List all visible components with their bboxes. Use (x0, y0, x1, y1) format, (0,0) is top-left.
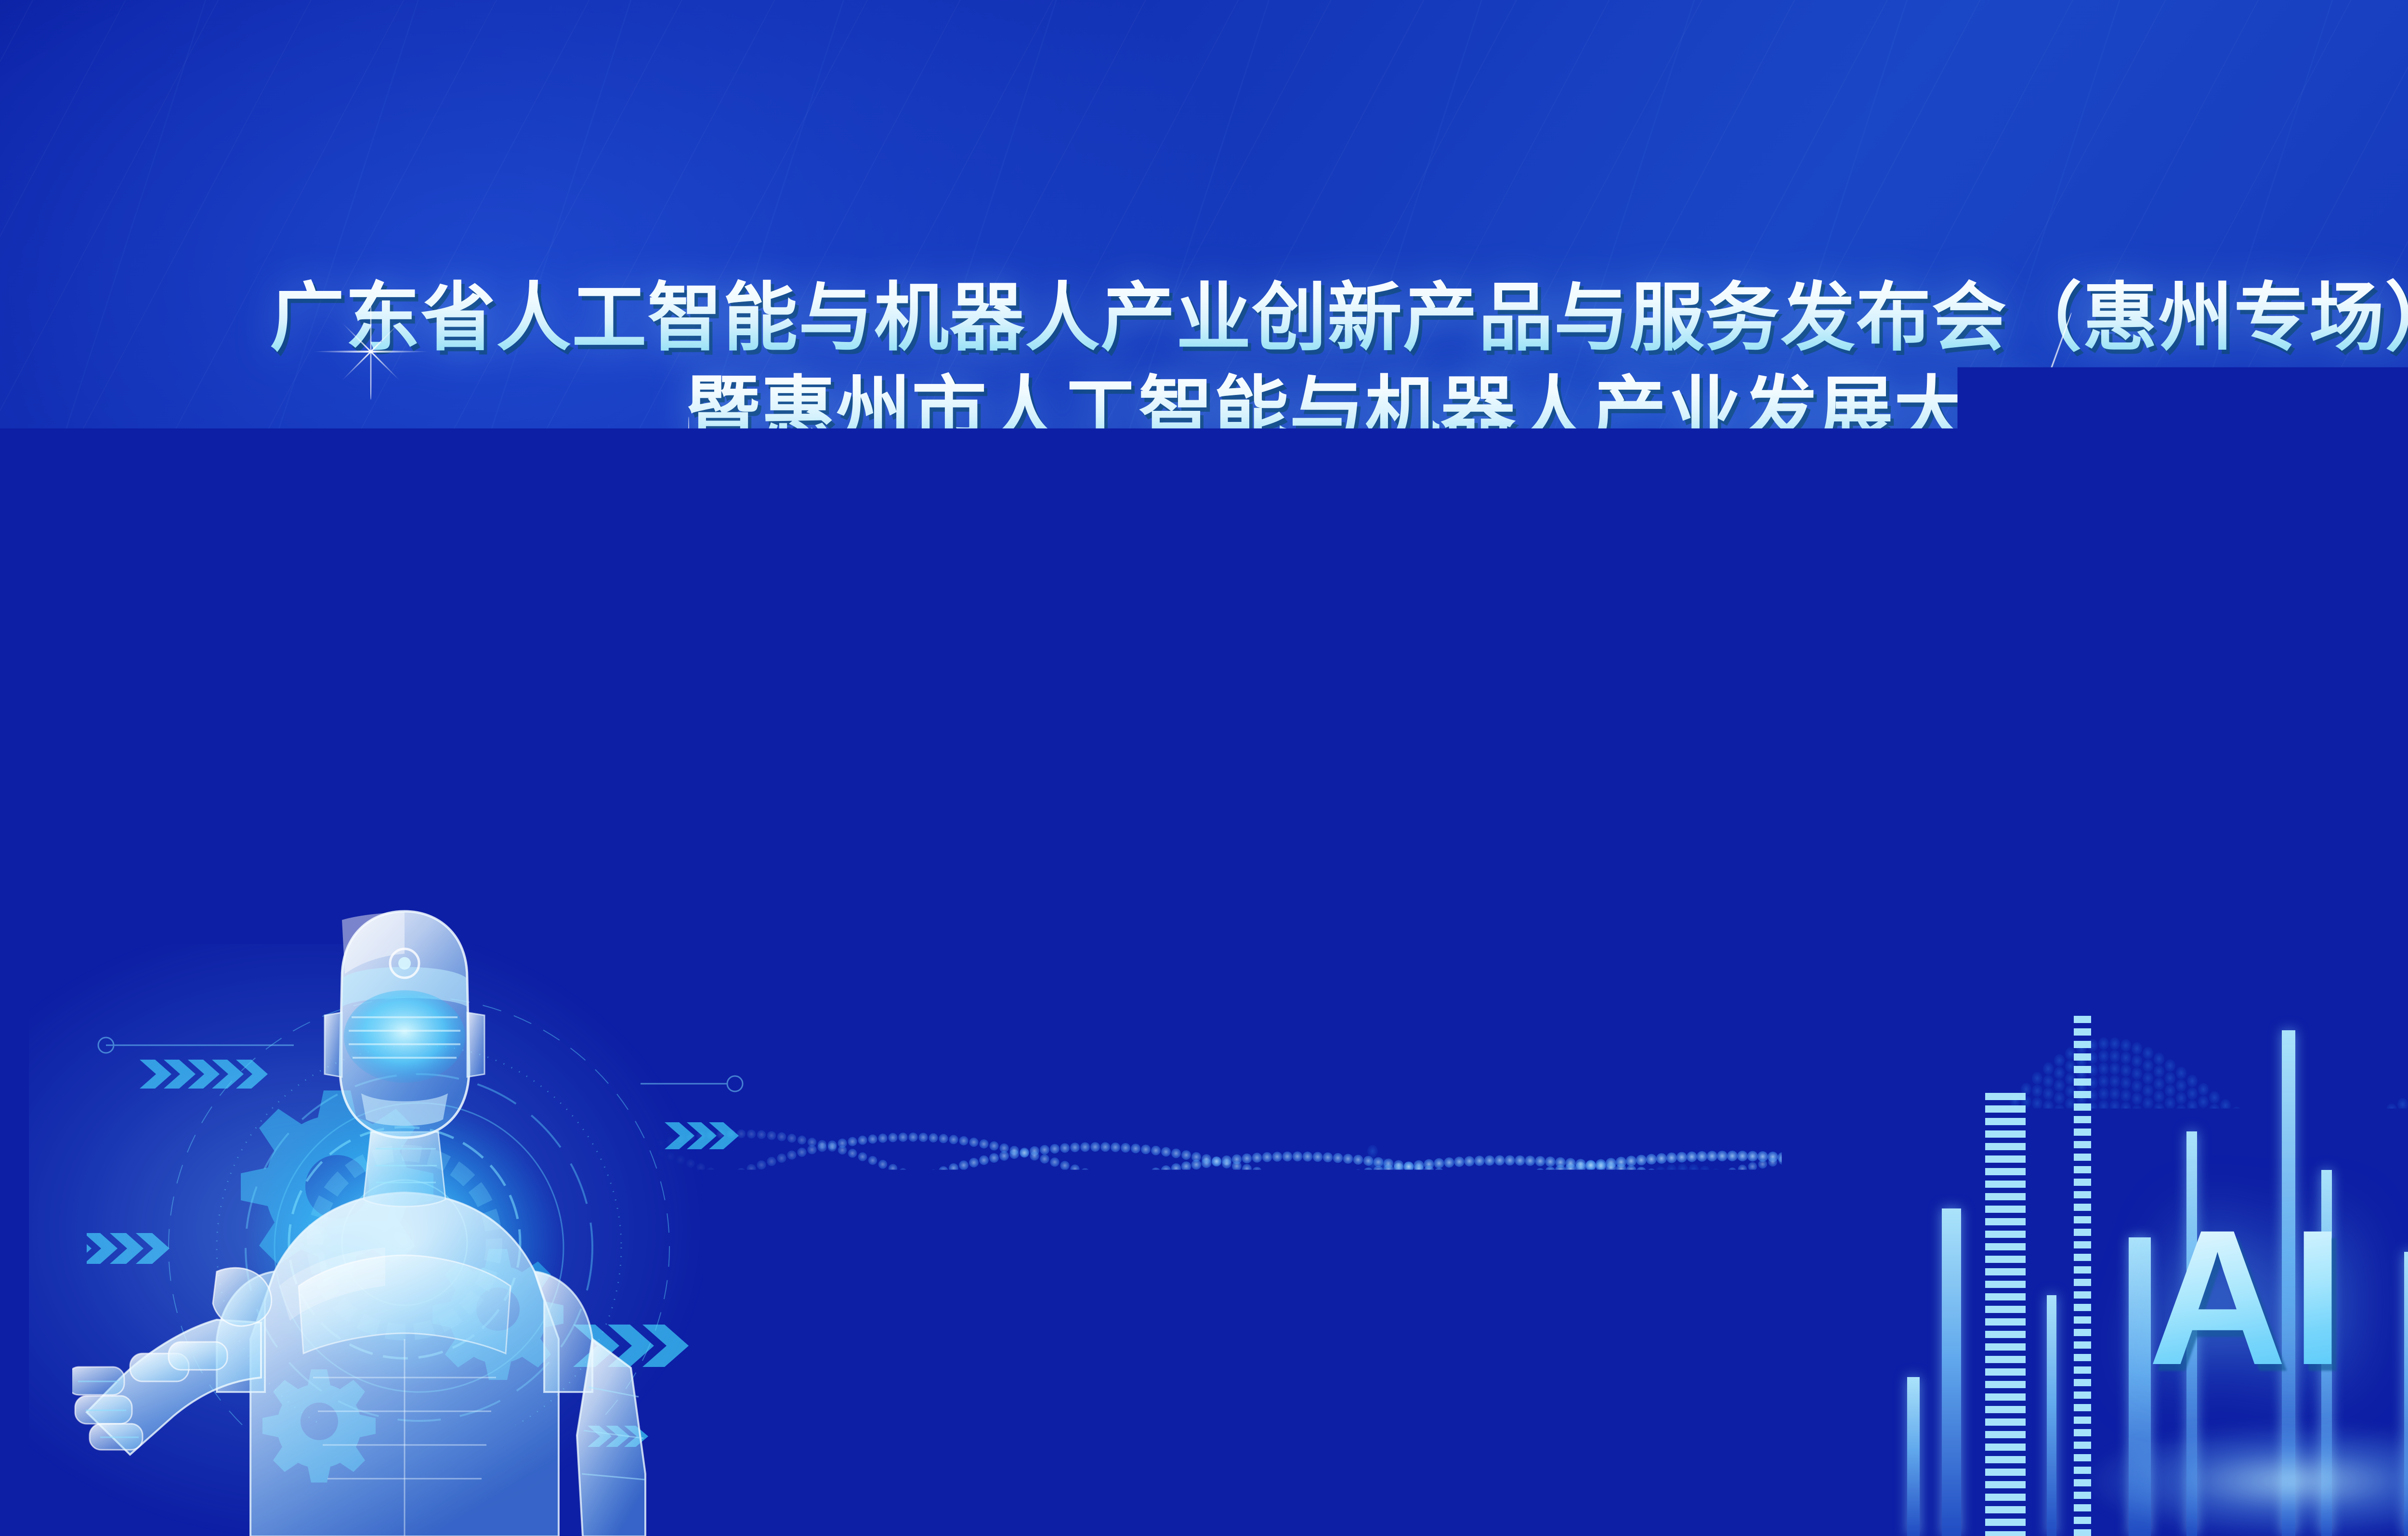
event-subtitle: 中国·惠州2025年6月25日 (0, 561, 2408, 612)
humanoid-robot-figure (72, 906, 713, 1536)
credit-label: 协办单位： (803, 975, 923, 994)
credit-label: 承办单位： (803, 943, 923, 962)
credit-label: 支持单位： (803, 1038, 923, 1058)
credit-label: 指导单位： (803, 880, 923, 899)
credit-value: 广东省人工智能与机器人产业创新发展工作领导小组办公室、惠州市人民政府 (923, 880, 1584, 899)
credit-value: 广东省人工智能与机器人产业联盟、深圳市人工智能产业协会、大湾区（东莞）人工智能联… (923, 1038, 1720, 1058)
title-line-2: 暨惠州市人工智能与机器人产业发展大会 (0, 368, 2408, 455)
ai-logo-underglow (2085, 1423, 2408, 1536)
credit-value: 中国移动通信集团广东有限公司惠州分公司、中国电信股份有限公司惠州分公司 (923, 1007, 1604, 1026)
credit-value: 惠州市工业和信息化局、惠州市政务服务和数据管理局 (923, 911, 1390, 931)
credit-value: 惠州市电子信息产业协会、惠州市人工智能与机器人产业联盟 (923, 943, 1448, 962)
credit-row: 支持单位： 广东省人工智能与机器人产业联盟、深圳市人工智能产业协会、大湾区（东莞… (803, 1038, 1720, 1058)
credit-row: 承办单位： 惠州市电子信息产业协会、惠州市人工智能与机器人产业联盟 (803, 943, 1720, 962)
credit-row: 主办单位： 惠州市工业和信息化局、惠州市政务服务和数据管理局 (803, 911, 1720, 931)
credit-value: 中国联合网络通信有限公司惠州市分公司、中国邮政储蓄银行股份有限公司惠州市分行 (923, 975, 1662, 994)
event-title: 广东省人工智能与机器人产业创新产品与服务发布会（惠州专场） 暨惠州市人工智能与机… (0, 275, 2408, 455)
credit-label: 主办单位： (803, 911, 923, 931)
credit-row: 指导单位： 广东省人工智能与机器人产业创新发展工作领导小组办公室、惠州市人民政府 (803, 880, 1720, 899)
event-banner: AI 广东省人工智能与机器人产业创新产品与服务发布会（惠州专场） 暨惠州市人工智… (0, 0, 2408, 1536)
subtitle-date: 2025年6月25日 (1335, 571, 1581, 609)
subtitle-location: 中国·惠州 (1150, 571, 1303, 609)
credit-row-continuation: 中国移动通信集团广东有限公司惠州分公司、中国电信股份有限公司惠州分公司 (803, 1007, 1720, 1026)
organizer-credits: 指导单位： 广东省人工智能与机器人产业创新发展工作领导小组办公室、惠州市人民政府… (803, 880, 1720, 1058)
title-line-1: 广东省人工智能与机器人产业创新产品与服务发布会（惠州专场） (0, 275, 2408, 361)
credit-row: 协办单位： 中国联合网络通信有限公司惠州市分公司、中国邮政储蓄银行股份有限公司惠… (803, 975, 1720, 994)
ai-logo: AI (2148, 1219, 2348, 1377)
